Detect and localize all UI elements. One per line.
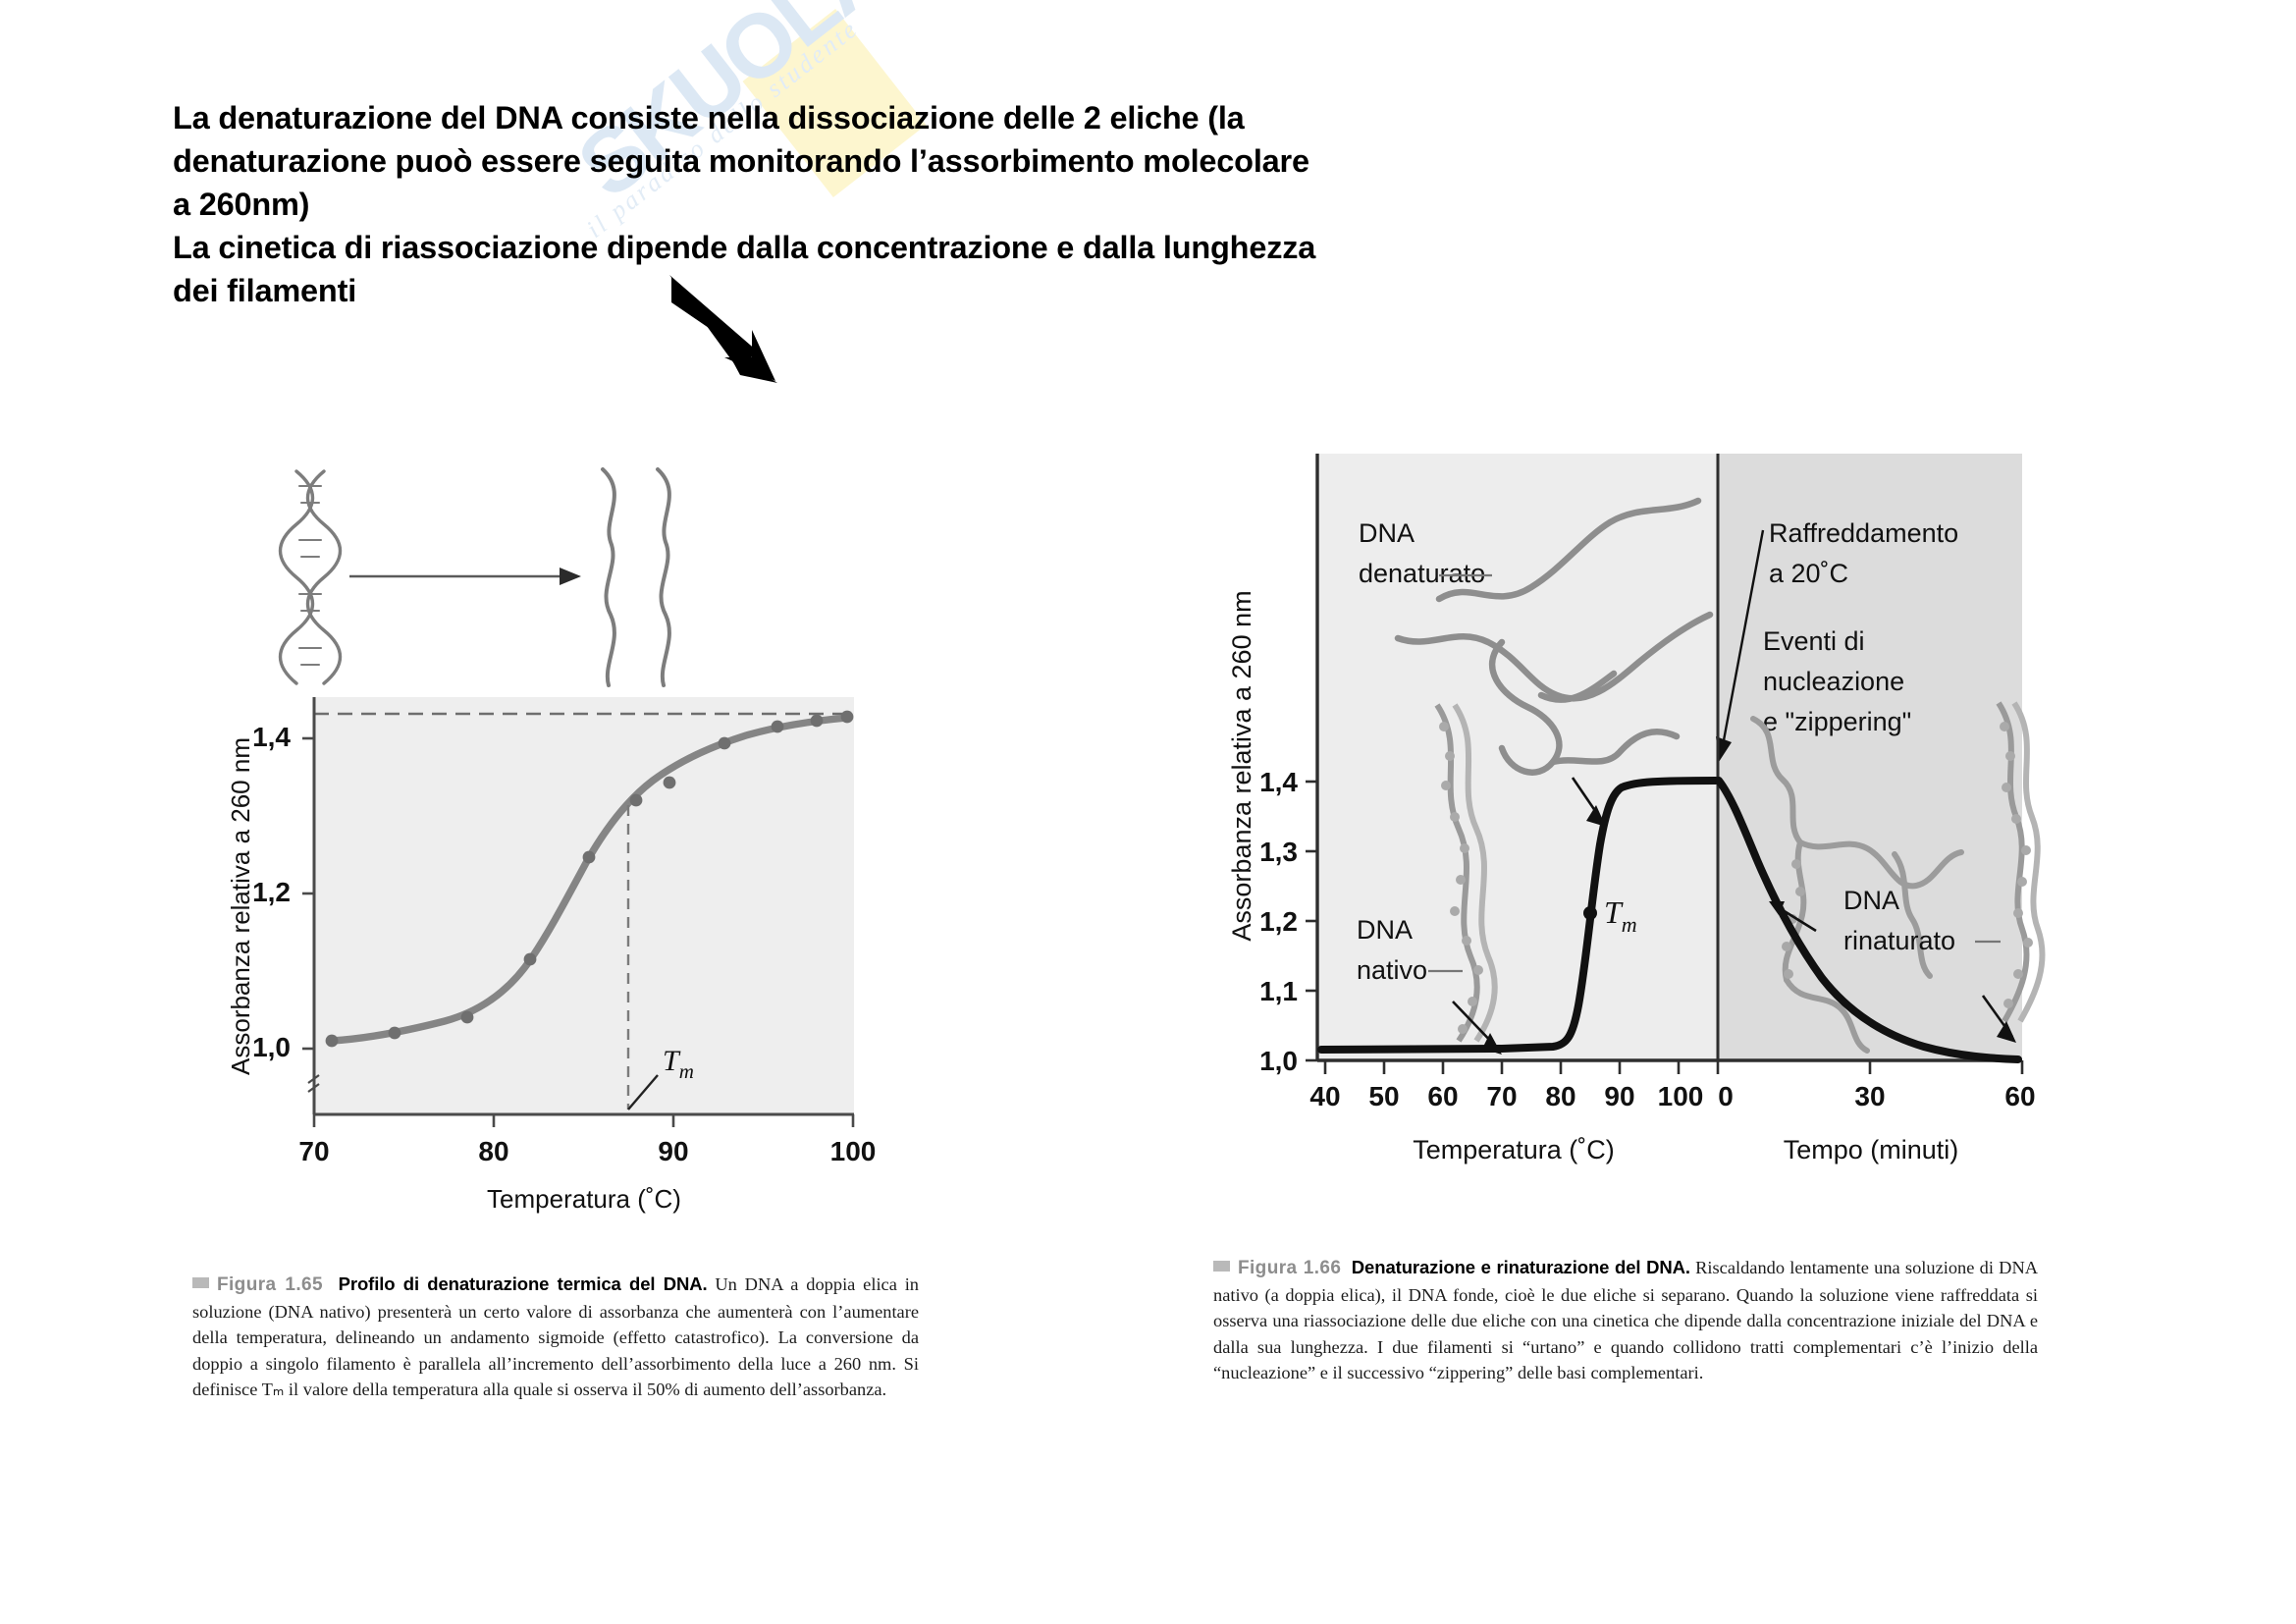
x-ticklabel-80: 80 [478, 1136, 508, 1166]
y-ticklabel-1-4: 1,4 [252, 722, 291, 752]
y-ticklabel-1-2-b: 1,2 [1259, 906, 1298, 937]
figure-1-65-plot: 1,4 1,2 1,0 70 80 90 100 [167, 432, 962, 1262]
figure-1-66-plot: DNA denaturato DNA nativo Raffreddamento… [1207, 432, 2061, 1247]
tm-point [1583, 906, 1597, 920]
y-ticklabel-1-0-b: 1,0 [1259, 1046, 1298, 1076]
x-ticklabel-70-b: 70 [1486, 1081, 1517, 1111]
label-eventi-line1: Eventi di [1763, 626, 1865, 656]
heading-line-4: La cinetica di riassociazione dipende da… [173, 226, 1380, 269]
label-eventi-line3: e "zippering" [1763, 707, 1911, 736]
x-ticklabel-100: 100 [830, 1136, 877, 1166]
label-dna-denaturato-line2: denaturato [1359, 559, 1485, 588]
x-ticks-heating [1325, 1060, 1679, 1074]
figure-1-66-label: Figura 1.66 [1238, 1258, 1341, 1278]
y-ticklabel-1-1-b: 1,1 [1259, 976, 1298, 1006]
x-ticks-cooling [1718, 1060, 2022, 1074]
label-dna-nativo-line2: nativo [1357, 955, 1427, 985]
heading-line-3: a 260nm) [173, 183, 1380, 226]
y-axis-title-1-66: Assorbanza relativa a 260 nm [1227, 590, 1256, 941]
x-ticklabel-80-b: 80 [1545, 1081, 1575, 1111]
x-ticklabel-50: 50 [1368, 1081, 1399, 1111]
x-ticklabel-90-b: 90 [1604, 1081, 1634, 1111]
double-helix-icon [281, 471, 341, 683]
x-axis-title-1-65: Temperatura (˚C) [487, 1184, 681, 1214]
x-ticklabel-60: 60 [1427, 1081, 1458, 1111]
x-axis-title-cooling: Tempo (minuti) [1784, 1135, 1959, 1164]
x-axis-title-heating: Temperatura (˚C) [1413, 1135, 1615, 1164]
x-ticklabel-90: 90 [658, 1136, 688, 1166]
caption-marker-icon-2 [1213, 1261, 1230, 1272]
figure-1-65-title: Profilo di denaturazione termica del DNA… [339, 1273, 708, 1294]
x-ticklabel-70: 70 [298, 1136, 329, 1166]
heading-line-2: denaturazione puoò essere seguita monito… [173, 139, 1380, 183]
heading-line-1: La denaturazione del DNA consiste nella … [173, 96, 1380, 139]
label-dna-denaturato-line1: DNA [1359, 518, 1415, 548]
caption-marker-icon [192, 1277, 209, 1288]
label-dna-rinaturato-line2: rinaturato [1843, 926, 1955, 955]
figure-1-65-caption: Figura 1.65 Profilo di denaturazione ter… [192, 1272, 919, 1403]
x-ticklabel-0: 0 [1718, 1081, 1734, 1111]
label-dna-rinaturato-line1: DNA [1843, 886, 1899, 915]
y-ticks-1-66 [1306, 782, 1317, 1060]
conversion-arrow-icon [349, 568, 581, 585]
label-eventi-line2: nucleazione [1763, 667, 1904, 696]
x-ticklabel-40: 40 [1309, 1081, 1340, 1111]
y-ticklabel-1-3-b: 1,3 [1259, 837, 1298, 867]
label-raffreddamento-line1: Raffreddamento [1769, 518, 1958, 548]
x-ticklabel-100-b: 100 [1658, 1081, 1704, 1111]
figure-1-65-label: Figura 1.65 [217, 1274, 323, 1295]
y-ticks [302, 738, 314, 1049]
y-ticklabel-1-0: 1,0 [252, 1032, 291, 1062]
single-strands-icon [603, 469, 669, 685]
label-dna-nativo-line1: DNA [1357, 915, 1413, 945]
figure-1-66: DNA denaturato DNA nativo Raffreddamento… [1207, 432, 2071, 1386]
figure-1-66-caption: Figura 1.66 Denaturazione e rinaturazion… [1213, 1255, 2038, 1386]
figure-1-65: 1,4 1,2 1,0 70 80 90 100 [167, 432, 1001, 1403]
label-raffreddamento-line2: a 20˚C [1769, 559, 1848, 588]
down-right-arrow-icon [667, 273, 795, 386]
figure-1-66-title: Denaturazione e rinaturazione del DNA. [1352, 1257, 1690, 1277]
x-ticklabel-60-time: 60 [2004, 1081, 2035, 1111]
x-ticks [314, 1114, 853, 1127]
y-axis-title-1-65: Assorbanza relativa a 260 nm [226, 737, 255, 1075]
x-ticklabel-30: 30 [1854, 1081, 1885, 1111]
y-ticklabel-1-4-b: 1,4 [1259, 767, 1298, 797]
y-ticklabel-1-2: 1,2 [252, 877, 291, 907]
plot-background [314, 697, 854, 1114]
